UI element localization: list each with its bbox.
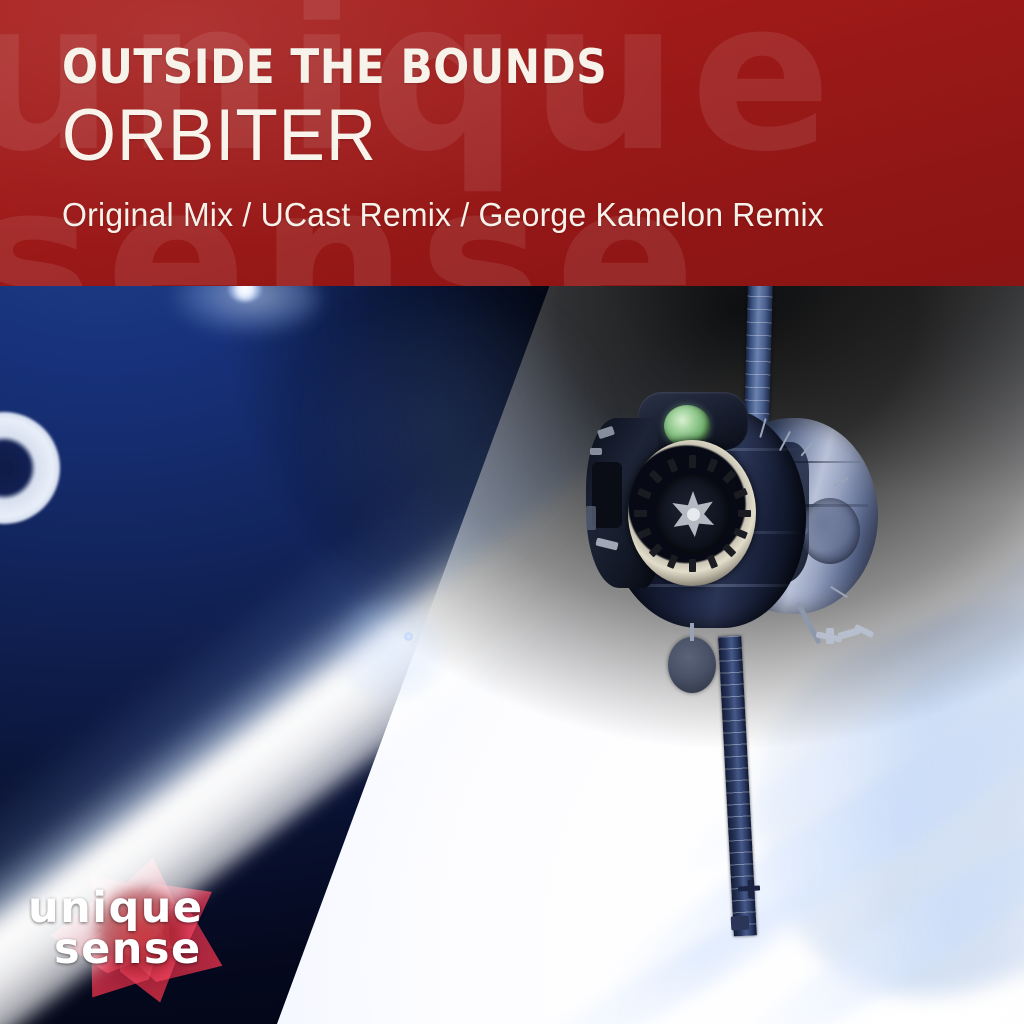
label-name-line-1: unique (28, 888, 252, 929)
docking-ring-tick (707, 458, 718, 473)
docking-ring-tick (689, 559, 696, 572)
docking-ring-tick (738, 510, 751, 517)
docking-ring-tick (637, 488, 652, 499)
album-cover: unique sense OUTSIDE THE BOUNDS ORBITER … (0, 0, 1024, 1024)
array-strut (748, 880, 754, 898)
docking-ring-tick (634, 510, 647, 517)
docking-hub (687, 508, 700, 521)
antenna-dish-icon (800, 498, 860, 564)
antenna-arm (690, 623, 694, 641)
docking-ring-tick (667, 458, 678, 473)
docking-ring-tick (733, 528, 748, 539)
sensor-boom (586, 506, 596, 530)
label-name-line-2: sense (28, 929, 252, 970)
docking-ring-tick (649, 543, 663, 557)
docking-ring-tick (689, 455, 696, 468)
docking-ring-tick (667, 554, 678, 569)
docking-ring-tick (637, 528, 652, 539)
docking-port (656, 474, 730, 554)
solar-panel-icon (744, 283, 773, 424)
title-band: unique sense OUTSIDE THE BOUNDS ORBITER … (0, 0, 1024, 286)
label-logo: unique sense (28, 836, 252, 1024)
docking-ring-tick (722, 543, 736, 557)
docking-ring-tick (722, 470, 736, 484)
label-wordmark: unique sense (28, 888, 252, 971)
release-info: OUTSIDE THE BOUNDS ORBITER Original Mix … (62, 0, 984, 234)
manipulator-arm-icon (816, 626, 878, 650)
artist-name: OUTSIDE THE BOUNDS (62, 44, 892, 91)
sensor-boom (590, 448, 602, 455)
docking-ring-tick (707, 554, 718, 569)
manipulator-segment (854, 624, 875, 638)
mix-list: Original Mix / UCast Remix / George Kame… (62, 196, 956, 234)
docking-ring-tick (733, 488, 748, 499)
manipulator-segment (826, 628, 834, 644)
docking-ring-tick (649, 470, 663, 484)
thruster-block (592, 462, 622, 528)
array-tip (731, 916, 750, 931)
antenna-dish-icon (668, 637, 716, 693)
release-title: ORBITER (62, 99, 938, 172)
